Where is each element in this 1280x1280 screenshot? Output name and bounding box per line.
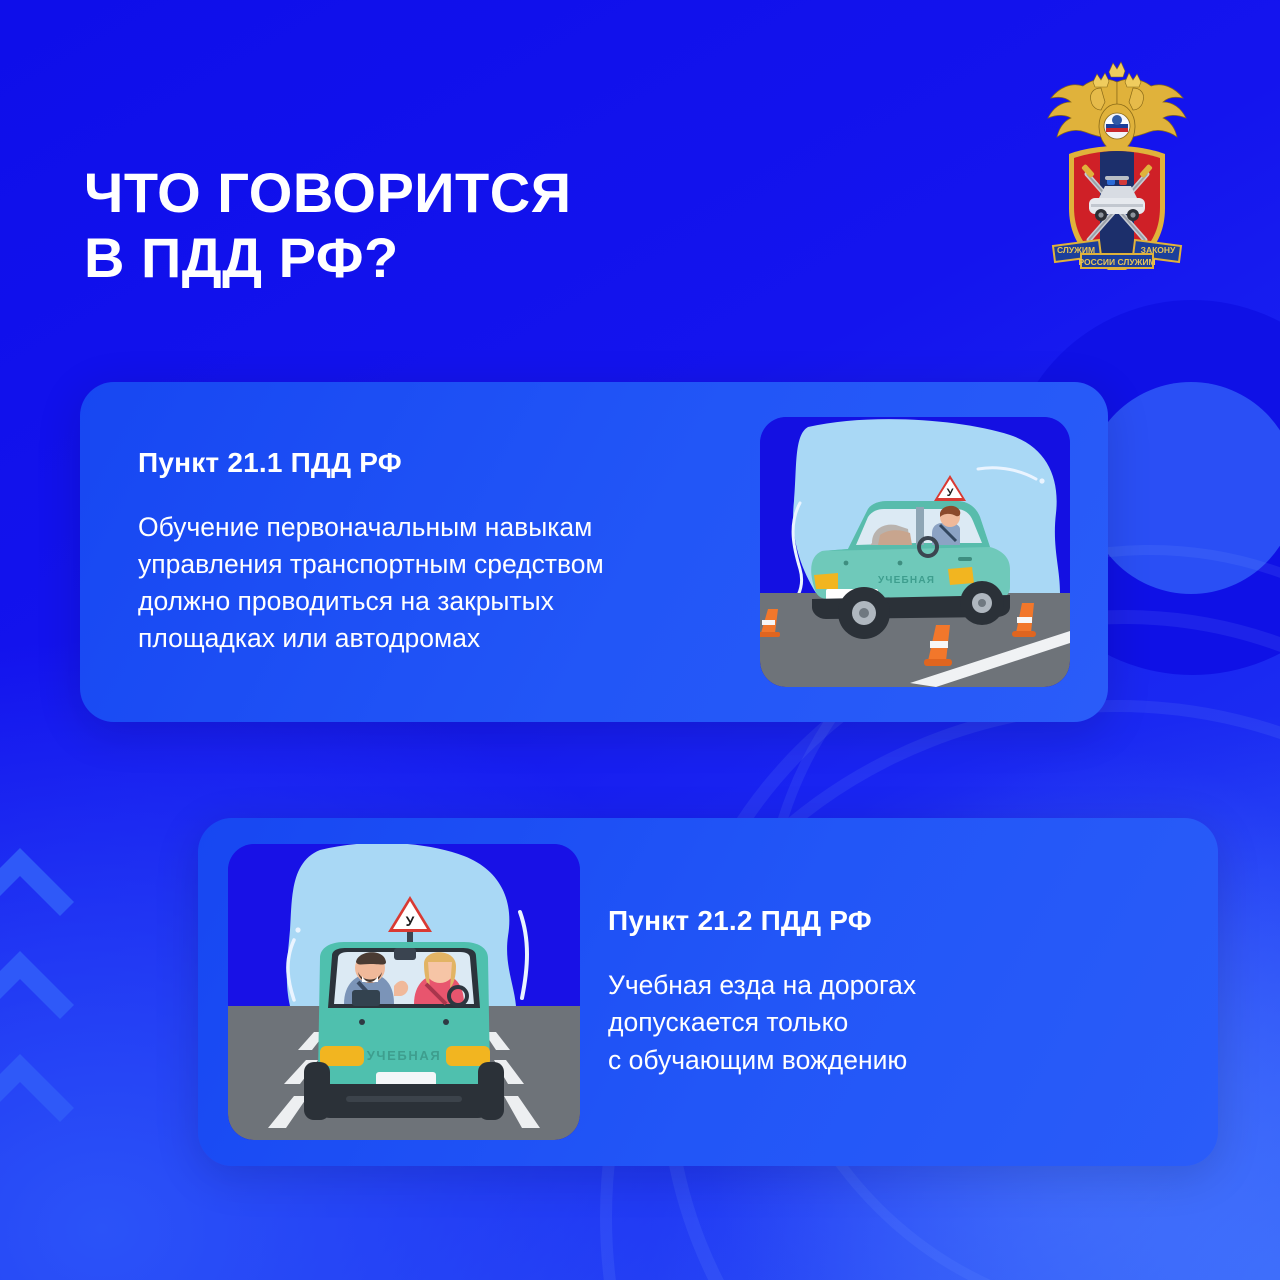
rule-card-21-2: У — [198, 818, 1218, 1166]
card-text-block: Пункт 21.1 ПДД РФ Обучение первоначальны… — [110, 447, 754, 657]
poster-canvas: ЧТО ГОВОРИТСЯ В ПДД РФ? — [0, 0, 1280, 1280]
svg-text:СЛУЖИМ: СЛУЖИМ — [1057, 245, 1095, 255]
chevron-up-icon — [0, 929, 80, 1047]
card-title: Пункт 21.2 ПДД РФ — [608, 905, 1108, 937]
card-body: Учебная езда на дорогах допускается толь… — [608, 967, 1108, 1078]
card-title: Пункт 21.1 ПДД РФ — [138, 447, 754, 479]
svg-text:УЧЕБНАЯ: УЧЕБНАЯ — [878, 575, 935, 586]
decorative-circle-inner — [1085, 382, 1280, 594]
title-line-1: ЧТО ГОВОРИТСЯ — [84, 161, 571, 224]
svg-text:ЗАКОНУ: ЗАКОНУ — [1141, 245, 1176, 255]
title-line-2: В ПДД РФ? — [84, 225, 844, 291]
chevron-up-icon — [0, 1032, 80, 1150]
svg-text:У: У — [406, 913, 415, 929]
svg-text:РОССИИ СЛУЖИМ: РОССИИ СЛУЖИМ — [1078, 257, 1155, 267]
page-title: ЧТО ГОВОРИТСЯ В ПДД РФ? — [84, 160, 844, 291]
chevron-up-icon — [0, 826, 80, 944]
mvd-emblem-icon: СЛУЖИМ ЗАКОНУ РОССИИ СЛУЖИМ — [1031, 58, 1203, 270]
svg-text:УЧЕБНАЯ: УЧЕБНАЯ — [367, 1048, 442, 1063]
rule-card-21-1: Пункт 21.1 ПДД РФ Обучение первоначальны… — [80, 382, 1108, 722]
training-car-side-illustration: У — [760, 417, 1070, 687]
svg-text:У: У — [947, 487, 954, 499]
training-car-front-illustration: У — [228, 844, 580, 1140]
card-body: Обучение первоначальным навыкам управлен… — [138, 509, 754, 657]
card-text-block: Пункт 21.2 ПДД РФ Учебная езда на дорога… — [594, 905, 1108, 1078]
